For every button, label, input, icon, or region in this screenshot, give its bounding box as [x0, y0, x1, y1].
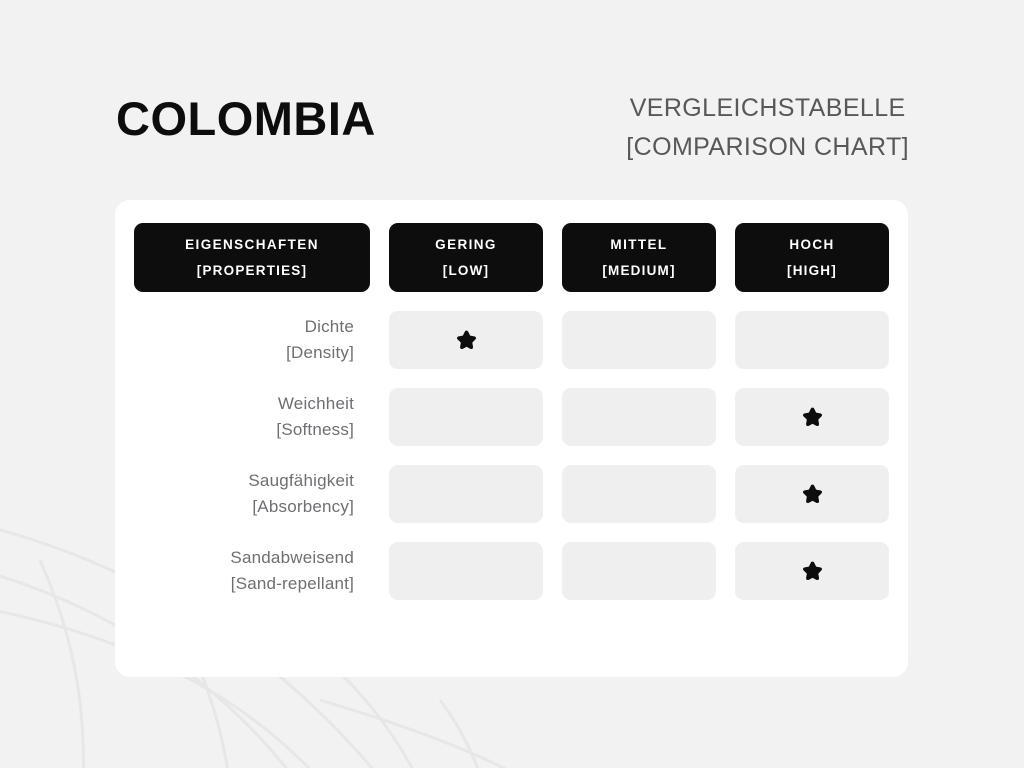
comparison-table: EIGENSCHAFTEN [PROPERTIES] GERING [LOW] …	[134, 223, 889, 600]
row-label-sand-repellant-en: [Sand-repellant]	[231, 571, 354, 597]
star-icon	[801, 560, 824, 583]
column-header-properties-en: [PROPERTIES]	[197, 258, 307, 284]
row-label-absorbency-en: [Absorbency]	[252, 494, 354, 520]
cell-softness-high[interactable]	[735, 388, 889, 446]
page-subtitle-line-de: VERGLEICHSTABELLE	[626, 89, 909, 128]
column-header-properties-de: EIGENSCHAFTEN	[185, 232, 319, 258]
cell-density-low[interactable]	[389, 311, 543, 369]
table-row: Sandabweisend [Sand-repellant]	[134, 542, 889, 600]
column-header-high-de: HOCH	[789, 232, 834, 258]
cell-density-high[interactable]	[735, 311, 889, 369]
table-row: Saugfähigkeit [Absorbency]	[134, 465, 889, 523]
row-label-density-de: Dichte	[305, 314, 354, 340]
column-header-medium-en: [MEDIUM]	[602, 258, 675, 284]
cell-sand-repellant-medium[interactable]	[562, 542, 716, 600]
page-title: COLOMBIA	[116, 95, 376, 142]
table-row: Weichheit [Softness]	[134, 388, 889, 446]
cell-softness-low[interactable]	[389, 388, 543, 446]
cell-density-medium[interactable]	[562, 311, 716, 369]
row-label-absorbency: Saugfähigkeit [Absorbency]	[134, 465, 370, 523]
cell-softness-medium[interactable]	[562, 388, 716, 446]
row-label-softness-en: [Softness]	[276, 417, 354, 443]
cell-sand-repellant-low[interactable]	[389, 542, 543, 600]
row-label-density-en: [Density]	[286, 340, 354, 366]
column-header-low-en: [LOW]	[443, 258, 489, 284]
column-header-medium: MITTEL [MEDIUM]	[562, 223, 716, 292]
table-header-row: EIGENSCHAFTEN [PROPERTIES] GERING [LOW] …	[134, 223, 889, 292]
star-icon	[455, 329, 478, 352]
row-label-absorbency-de: Saugfähigkeit	[248, 468, 354, 494]
cell-absorbency-low[interactable]	[389, 465, 543, 523]
comparison-chart-card: EIGENSCHAFTEN [PROPERTIES] GERING [LOW] …	[115, 200, 908, 677]
row-label-sand-repellant: Sandabweisend [Sand-repellant]	[134, 542, 370, 600]
column-header-high: HOCH [HIGH]	[735, 223, 889, 292]
column-header-properties: EIGENSCHAFTEN [PROPERTIES]	[134, 223, 370, 292]
cell-absorbency-medium[interactable]	[562, 465, 716, 523]
cell-absorbency-high[interactable]	[735, 465, 889, 523]
page-subtitle: VERGLEICHSTABELLE [COMPARISON CHART]	[626, 89, 909, 167]
row-label-density: Dichte [Density]	[134, 311, 370, 369]
page-header: COLOMBIA VERGLEICHSTABELLE [COMPARISON C…	[0, 0, 1024, 200]
column-header-low: GERING [LOW]	[389, 223, 543, 292]
table-row: Dichte [Density]	[134, 311, 889, 369]
row-label-sand-repellant-de: Sandabweisend	[230, 545, 354, 571]
row-label-softness-de: Weichheit	[278, 391, 354, 417]
column-header-medium-de: MITTEL	[610, 232, 667, 258]
star-icon	[801, 406, 824, 429]
column-header-high-en: [HIGH]	[787, 258, 837, 284]
star-icon	[801, 483, 824, 506]
cell-sand-repellant-high[interactable]	[735, 542, 889, 600]
page-subtitle-line-en: [COMPARISON CHART]	[626, 128, 909, 167]
column-header-low-de: GERING	[435, 232, 497, 258]
row-label-softness: Weichheit [Softness]	[134, 388, 370, 446]
